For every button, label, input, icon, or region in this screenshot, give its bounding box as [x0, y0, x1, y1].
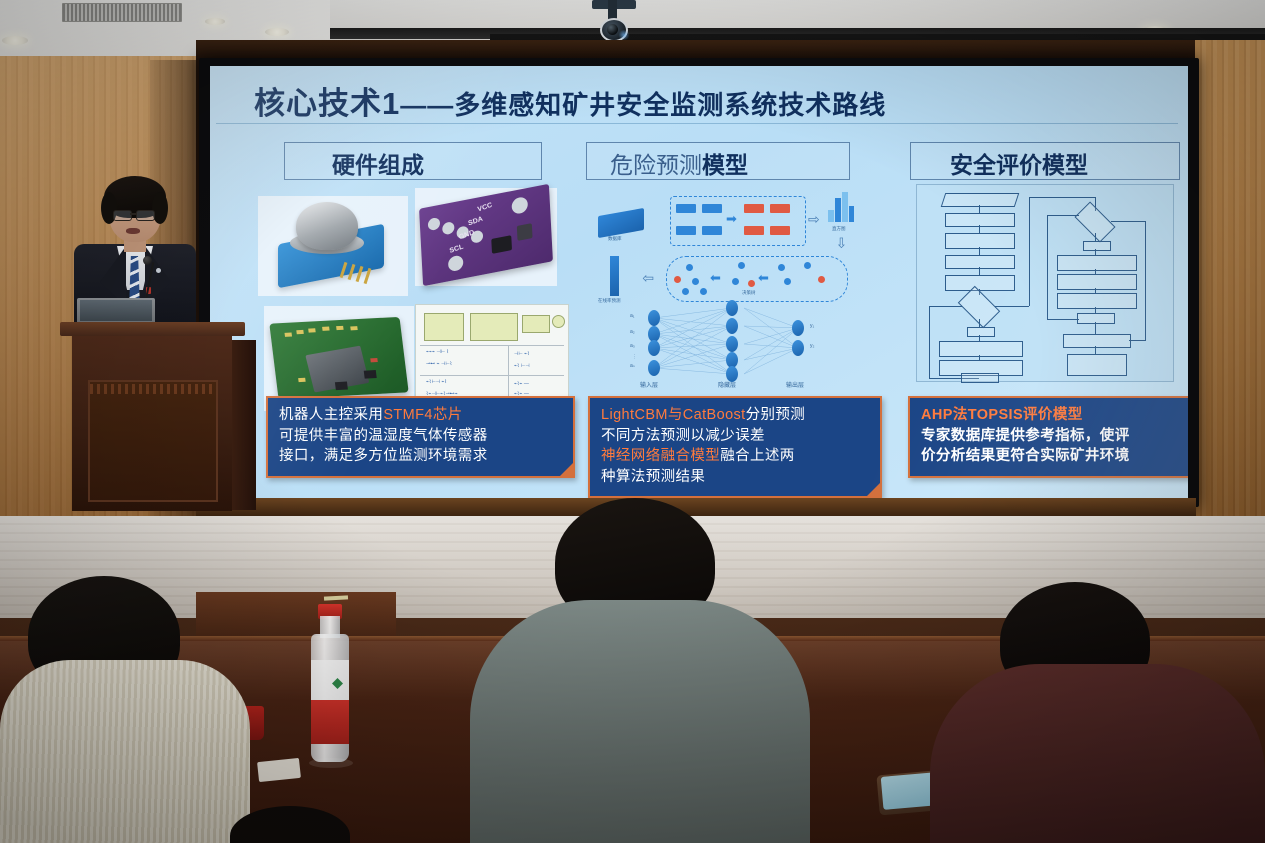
caption-highlight: 神经网络融合模型: [601, 448, 720, 464]
nn-hidden-node: [726, 300, 738, 316]
neural-network-diagram: a₁ a₂ a₃ ⋮ aₙ y₁ y₂ 输入层 隐藏层 输出层: [592, 300, 854, 392]
nn-input-label: aₙ: [630, 363, 635, 369]
flow-connector: [1029, 197, 1095, 198]
flow-process-box: [939, 341, 1023, 357]
glasses-icon: [113, 210, 132, 221]
flow-connector: [979, 205, 980, 213]
flow-process-box: [1063, 334, 1131, 348]
nn-layer-caption-output: 输出层: [786, 380, 804, 389]
flow-connector: [1095, 346, 1096, 354]
feature-cell-highlight: [744, 226, 764, 235]
flow-process-box: [961, 373, 999, 383]
nn-output-label: y₁: [810, 323, 814, 329]
flow-connector: [979, 247, 980, 255]
nn-ellipsis: ⋮: [632, 354, 637, 360]
nn-input-label: a₁: [630, 313, 634, 319]
purple-sensor-board-photo: VCC SDA GND SCL: [415, 188, 557, 286]
caption-line: 不同方法预测以减少误差: [601, 426, 871, 447]
caption-highlight: AHP法TOPSIS评价模型: [921, 407, 1083, 423]
arrow-down-outline-icon: ⇨: [835, 237, 849, 249]
pcb-pin-label: VCC: [477, 202, 493, 214]
gas-sensor-module-photo: [258, 196, 408, 296]
schematic-note: ⊸⊷ ⌁ ⊣⊢⌇: [426, 361, 452, 367]
caption-text: 机器人主控采用: [279, 407, 383, 423]
nn-hidden-node: [726, 336, 738, 352]
podium-trim: [90, 384, 212, 394]
flow-connector: [979, 225, 980, 233]
title-divider: [216, 123, 1178, 124]
smd-component: [336, 326, 343, 330]
caption-line: AHP法TOPSIS评价模型: [921, 405, 1188, 426]
cluster-point: [682, 288, 689, 295]
smd-component: [308, 328, 315, 332]
nn-output-label: y₂: [810, 343, 814, 349]
arrow-right-outline-icon: ⇨: [808, 212, 820, 226]
cluster-point: [686, 264, 693, 271]
flow-terminal-box: [1067, 354, 1127, 376]
histogram-bar: [849, 206, 854, 222]
cluster-label: 决策树: [742, 290, 756, 296]
nn-hidden-node: [726, 318, 738, 334]
caption-line: 可提供丰富的温湿度气体传感器: [279, 426, 564, 447]
schematic-node: [552, 315, 565, 328]
schematic-divider: [420, 345, 564, 346]
glasses-bridge: [130, 213, 137, 215]
feature-cell: [702, 226, 722, 235]
nn-input-node: [648, 360, 660, 376]
schematic-note: ⌁⌇⌁ —: [514, 381, 529, 387]
flow-process-box: [945, 213, 1015, 227]
flow-connector: [1095, 233, 1096, 241]
database-icon: [598, 208, 644, 238]
cluster-point: [804, 262, 811, 269]
database-label: 数据库: [608, 236, 622, 242]
header-label-risk-plain: 危险预测: [610, 152, 702, 178]
caption-text: 专家数据库提供参考指标，使评: [921, 428, 1130, 444]
slide-title: 核心技术1——多维感知矿井安全监测系统技术路线: [254, 78, 886, 123]
solder-pad: [442, 221, 455, 235]
flow-connector: [1095, 322, 1096, 334]
nn-output-node: [792, 340, 804, 356]
arrow-left-icon: ➡: [710, 272, 721, 285]
audience-member-right-body: [930, 664, 1265, 843]
flow-process-box: [945, 233, 1015, 249]
caption-line: 价分析结果更符合实际矿井环境: [921, 446, 1188, 467]
pcb-pin-label: SDA: [468, 216, 484, 228]
green-pcb: [269, 317, 408, 399]
caption-text: 接口，满足多方位监测环境需求: [279, 448, 488, 464]
caption-text: 不同方法预测以减少误差: [601, 428, 765, 444]
flow-process-box: [945, 275, 1015, 291]
caption-text: 分别预测: [746, 407, 806, 423]
flow-process-box: [1077, 313, 1115, 324]
flow-feedback-line: [929, 306, 930, 378]
downlight-icon: [2, 36, 28, 45]
arrow-right-icon: ➡: [726, 212, 737, 225]
mount-hole: [511, 196, 528, 215]
prediction-caption: LightCBM与CatBoost分别预测 不同方法预测以减少误差 神经网络融合…: [588, 396, 882, 498]
feature-cell: [676, 204, 696, 213]
audience-member-center-body: [470, 600, 810, 843]
cluster-point: [784, 278, 791, 285]
flow-connector: [995, 306, 1029, 307]
smd-component: [335, 382, 348, 391]
cluster-point: [732, 278, 739, 285]
audience-member-left-sweater-texture: [0, 660, 250, 843]
microphone-icon: [143, 256, 152, 265]
arrow-left-outline-icon: ⇨: [642, 272, 654, 286]
laptop-screen: [80, 300, 152, 321]
downlight-icon: [205, 18, 225, 25]
ahp-topsis-flowchart: [916, 184, 1174, 382]
flow-connector: [979, 319, 980, 327]
caption-line: 种算法预测结果: [601, 467, 871, 488]
projection-screen: 核心技术1——多维感知矿井安全监测系统技术路线 硬件组成 危险预测模型 安全评价…: [210, 66, 1188, 498]
glasses-icon: [136, 210, 155, 221]
schematic-note: ⌁⌁⌁ ⊣⊢ ⌇: [426, 349, 449, 355]
caption-fold-corner: [865, 481, 882, 498]
flow-process-box: [1057, 274, 1137, 290]
smd-component: [350, 326, 357, 330]
cluster-point-highlight: [818, 276, 825, 283]
slide-title-sub: 多维感知矿井安全监测系统技术路线: [454, 90, 886, 120]
wall-top-band: [196, 40, 1196, 60]
sensor-mesh-cap: [296, 202, 358, 250]
led-component: [370, 358, 377, 362]
presentation-scene: 核心技术1——多维感知矿井安全监测系统技术路线 硬件组成 危险预测模型 安全评价…: [0, 0, 1265, 843]
downlight-icon: [265, 28, 289, 36]
result-bar: [610, 256, 619, 296]
wall-right-shading: [1195, 40, 1265, 540]
feature-cell-highlight: [770, 226, 790, 235]
smd-component: [296, 330, 303, 334]
nn-input-label: a₃: [630, 343, 635, 349]
cluster-point-highlight: [674, 276, 681, 283]
flow-input-shape: [941, 193, 1020, 207]
smd-component: [285, 333, 292, 337]
header-label-risk-bold: 模型: [702, 152, 748, 178]
caption-text: 种算法预测结果: [601, 469, 705, 485]
nn-input-label: a₂: [630, 329, 635, 335]
flow-process-box: [1057, 293, 1137, 309]
slide-title-main: 核心技术1: [254, 86, 400, 121]
nn-input-node: [648, 340, 660, 356]
caption-text: 可提供丰富的温湿度气体传感器: [279, 428, 488, 444]
flow-process-box: [967, 327, 995, 337]
hardware-caption: 机器人主控采用STMF4芯片 可提供丰富的温湿度气体传感器 接口，满足多方位监测…: [266, 396, 575, 478]
caption-line: 神经网络融合模型融合上述两: [601, 446, 871, 467]
flow-feedback-line: [1047, 215, 1079, 216]
flow-process-box: [945, 255, 1015, 269]
feature-cell-highlight: [744, 204, 764, 213]
flow-feedback-line: [929, 306, 962, 307]
solder-pad: [428, 217, 441, 231]
camera-lens-icon: [607, 24, 618, 35]
schematic-divider: [420, 375, 564, 376]
nn-output-node: [792, 320, 804, 336]
pcb-pin-label: SCL: [449, 243, 464, 254]
presenter-mouth: [126, 228, 140, 234]
cluster-point: [738, 262, 745, 269]
water-bottle-reflection: [309, 758, 353, 768]
flow-feedback-line: [1111, 221, 1146, 222]
nn-layer-caption-hidden: 隐藏层: [718, 380, 736, 389]
stage-trim-band: [196, 498, 1196, 516]
histogram-label: 直方图: [832, 226, 846, 232]
caption-highlight: STMF4芯片: [383, 407, 462, 423]
podium-top: [60, 322, 245, 336]
podium-front-panel: [88, 380, 218, 502]
header-label-safety-evaluation: 安全评价模型: [950, 146, 1088, 180]
caption-highlight: LightCBM与CatBoost: [601, 407, 746, 423]
air-conditioner-vent-icon: [62, 3, 182, 22]
schematic-note: ⊣⊢ ⌁⌇: [514, 351, 530, 357]
cluster-point-highlight: [748, 280, 755, 287]
feature-cell: [676, 226, 696, 235]
nn-input-node: [648, 310, 660, 326]
sensor-chip: [517, 223, 533, 241]
smd-component: [364, 370, 377, 379]
header-label-hardware: 硬件组成: [332, 146, 424, 180]
schematic-block: [470, 313, 518, 341]
caption-fold-corner: [558, 461, 575, 478]
nn-layer-caption-input: 输入层: [640, 380, 658, 389]
schematic-block: [522, 315, 550, 333]
purple-pcb: VCC SDA GND SCL: [419, 184, 553, 286]
flow-process-box: [1057, 255, 1137, 271]
smd-component: [322, 327, 329, 331]
smd-component: [298, 378, 305, 382]
feature-cell: [702, 204, 722, 213]
schematic-block: [424, 313, 464, 341]
histogram-bar: [828, 210, 834, 222]
water-bottle-label: [311, 700, 349, 744]
caption-line: 接口，满足多方位监测环境需求: [279, 446, 564, 467]
caption-line: 机器人主控采用STMF4芯片: [279, 405, 564, 426]
cluster-point: [778, 264, 785, 271]
flow-feedback-line: [1047, 215, 1048, 320]
schematic-note: ⌁⌇ ⊢⊣: [514, 363, 530, 369]
podium-side: [232, 340, 256, 510]
header-label-risk-prediction: 危险预测模型: [610, 146, 748, 180]
caption-text: 融合上述两: [720, 448, 795, 464]
evaluation-caption: AHP法TOPSIS评价模型 专家数据库提供参考指标，使评 价分析结果更符合实际…: [908, 396, 1188, 478]
flow-feedback-line: [1129, 340, 1146, 341]
caption-text: 价分析结果更符合实际矿井环境: [921, 448, 1130, 464]
camera-glow: [618, 30, 630, 40]
flow-feedback-line: [1145, 221, 1146, 340]
flow-feedback-line: [1047, 319, 1079, 320]
flow-connector: [979, 267, 980, 275]
caption-line: 专家数据库提供参考指标，使评: [921, 426, 1188, 447]
caption-line: LightCBM与CatBoost分别预测: [601, 405, 871, 426]
feature-cell-highlight: [770, 204, 790, 213]
flow-process-box: [1083, 241, 1111, 251]
slide-title-dash: ——: [400, 90, 454, 120]
arrow-left-icon: ➡: [758, 272, 769, 285]
histogram-bar: [835, 198, 841, 222]
cluster-point: [692, 278, 699, 285]
cluster-point: [700, 288, 707, 295]
histogram-bar: [842, 192, 848, 222]
mount-hole: [448, 254, 464, 272]
flow-connector: [1029, 197, 1030, 306]
schematic-note: ⌁⌇⊢⊣ ⌁⌇: [426, 379, 447, 385]
presenter-badge: [156, 268, 161, 273]
sensor-chip: [491, 235, 512, 254]
water-bottle-label-white: [311, 660, 349, 700]
data-processing-flow-diagram: 数据库 ➡ ⇨ 直方图 ⇨: [592, 188, 854, 280]
